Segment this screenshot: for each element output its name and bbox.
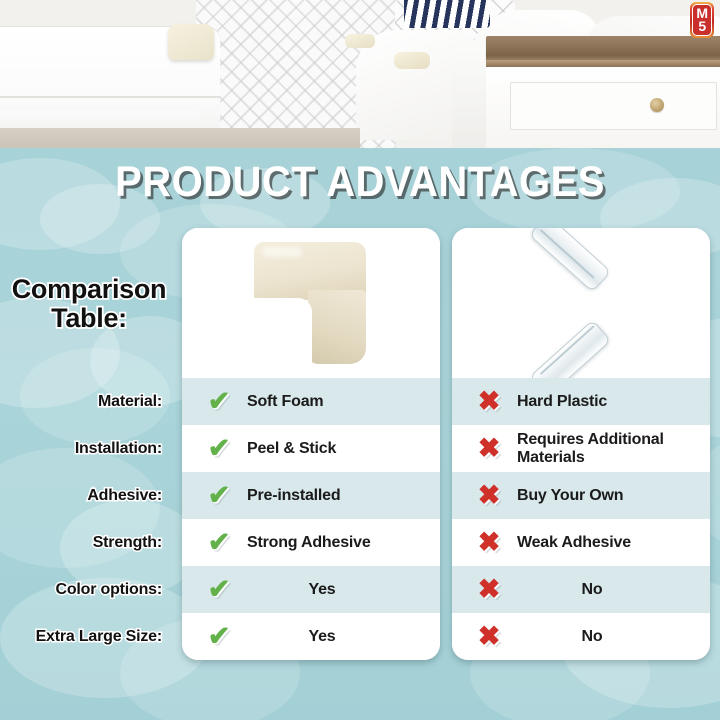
- soft-foam-product-image: [182, 228, 440, 378]
- feature-label: Color options:: [0, 566, 172, 613]
- check-icon: ✔: [200, 388, 238, 415]
- feature-label: Strength:: [0, 519, 172, 566]
- comparison-label-line2: Table:: [4, 304, 174, 333]
- check-icon: ✔: [200, 576, 238, 603]
- wooden-tabletop: [486, 36, 720, 62]
- plastic-guard-arm: [529, 228, 612, 292]
- drawer-knob-icon: [650, 98, 664, 112]
- table-row: ✖Buy Your Own: [452, 472, 710, 519]
- right-feature-rows: ✖Hard Plastic✖Requires Additional Materi…: [452, 378, 710, 660]
- comparison-label-line1: Comparison: [4, 275, 174, 304]
- sofa-seam: [0, 96, 220, 98]
- check-icon: ✔: [200, 623, 238, 650]
- m5-logo-inner: M 5: [692, 4, 712, 36]
- feature-value: Weak Adhesive: [508, 534, 710, 552]
- foam-corner-guard-icon: [254, 242, 366, 364]
- striped-pillow: [404, 0, 490, 28]
- table-row: ✔Soft Foam: [182, 378, 440, 425]
- check-icon: ✔: [200, 482, 238, 509]
- feature-value: No: [508, 581, 710, 599]
- feature-value: Pre-installed: [238, 487, 440, 505]
- table-row: ✖No: [452, 566, 710, 613]
- corner-guard-on-table: [394, 52, 430, 69]
- table-row: ✔Peel & Stick: [182, 425, 440, 472]
- check-icon: ✔: [200, 435, 238, 462]
- m5-logo-digit: 5: [698, 20, 705, 33]
- foam-guard-leg: [308, 290, 366, 364]
- cross-icon: ✖: [470, 435, 508, 462]
- feature-value: Hard Plastic: [508, 393, 710, 411]
- feature-value: Requires Additional Materials: [508, 431, 710, 467]
- wooden-tabletop-edge: [486, 60, 720, 67]
- table-row: ✔Pre-installed: [182, 472, 440, 519]
- table-row: ✔Yes: [182, 613, 440, 660]
- cross-icon: ✖: [470, 576, 508, 603]
- check-icon: ✔: [200, 529, 238, 556]
- foam-guard-highlight: [262, 247, 302, 257]
- feature-value: No: [508, 628, 710, 646]
- feature-label: Extra Large Size:: [0, 613, 172, 660]
- feature-value: Yes: [238, 628, 440, 646]
- cross-icon: ✖: [470, 623, 508, 650]
- cross-icon: ✖: [470, 482, 508, 509]
- hero-photo: [0, 0, 720, 148]
- corner-guard-on-sofa: [168, 24, 214, 60]
- m5-logo: M 5: [690, 2, 714, 38]
- cross-icon: ✖: [470, 529, 508, 556]
- table-row: ✔Strong Adhesive: [182, 519, 440, 566]
- feature-value: Peel & Stick: [238, 440, 440, 458]
- infographic-page: M 5 PRODUCT ADVANTAGES Comparison Table:: [0, 0, 720, 720]
- plastic-corner-guard-icon: [510, 246, 630, 364]
- feature-value: Soft Foam: [238, 393, 440, 411]
- corner-guard-on-table: [345, 34, 375, 48]
- feature-label: Adhesive:: [0, 472, 172, 519]
- feature-label-column: Material:Installation:Adhesive:Strength:…: [0, 378, 172, 660]
- table-row: ✖Requires Additional Materials: [452, 425, 710, 472]
- table-drawer: [510, 82, 717, 130]
- feature-label: Installation:: [0, 425, 172, 472]
- foam-guard-notch: [254, 298, 312, 364]
- feature-value: Buy Your Own: [508, 487, 710, 505]
- table-row: ✖Hard Plastic: [452, 378, 710, 425]
- page-title: PRODUCT ADVANTAGES: [25, 158, 695, 207]
- product-card-soft-foam[interactable]: ✔Soft Foam✔Peel & Stick✔Pre-installed✔St…: [182, 228, 440, 660]
- feature-label: Material:: [0, 378, 172, 425]
- table-row: ✖No: [452, 613, 710, 660]
- feature-value: Strong Adhesive: [238, 534, 440, 552]
- table-row: ✔Yes: [182, 566, 440, 613]
- side-table-body: [452, 48, 490, 148]
- floor: [0, 128, 360, 148]
- feature-value: Yes: [238, 581, 440, 599]
- cross-icon: ✖: [470, 388, 508, 415]
- hard-plastic-product-image: [452, 228, 710, 378]
- comparison-table-label: Comparison Table:: [4, 275, 174, 333]
- left-feature-rows: ✔Soft Foam✔Peel & Stick✔Pre-installed✔St…: [182, 378, 440, 660]
- product-card-hard-plastic[interactable]: ✖Hard Plastic✖Requires Additional Materi…: [452, 228, 710, 660]
- table-row: ✖Weak Adhesive: [452, 519, 710, 566]
